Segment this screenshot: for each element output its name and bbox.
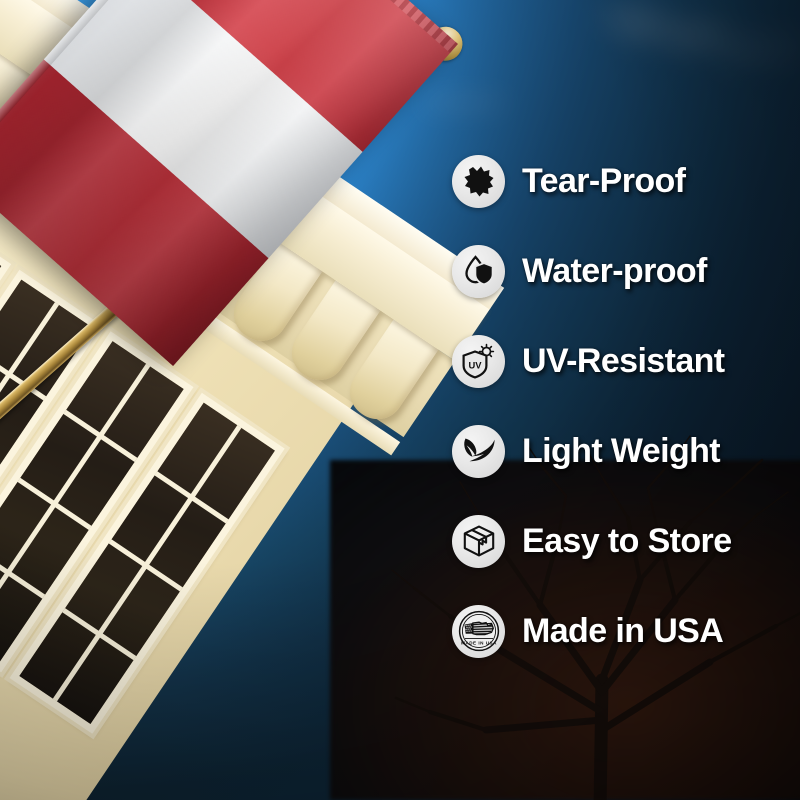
water-proof-icon [452, 245, 505, 298]
easy-to-store-icon [452, 515, 505, 568]
feature-item-uv-resistant: UV UV-Resistant [452, 316, 800, 406]
made-in-usa-icon: MADE IN USA [452, 605, 505, 658]
feature-label: Made in USA [522, 612, 723, 651]
tear-proof-icon [452, 155, 505, 208]
feature-item-made-in-usa: MADE IN USA Made in USA [452, 586, 800, 676]
light-weight-icon [452, 425, 505, 478]
svg-text:MADE IN USA: MADE IN USA [461, 641, 497, 646]
feature-item-light-weight: Light Weight [452, 406, 800, 496]
product-feature-image: Tear-Proof Water-proof U [0, 0, 800, 800]
feature-label: Water-proof [522, 252, 707, 291]
feature-item-easy-to-store: Easy to Store [452, 496, 800, 586]
feature-item-tear-proof: Tear-Proof [452, 136, 800, 226]
feature-label: UV-Resistant [522, 342, 725, 381]
feature-label: Tear-Proof [522, 162, 685, 201]
feature-label: Light Weight [522, 432, 720, 471]
feature-list: Tear-Proof Water-proof U [452, 136, 800, 676]
uv-resistant-icon: UV [452, 335, 505, 388]
feature-item-water-proof: Water-proof [452, 226, 800, 316]
feature-label: Easy to Store [522, 522, 732, 561]
svg-text:UV: UV [468, 359, 482, 370]
